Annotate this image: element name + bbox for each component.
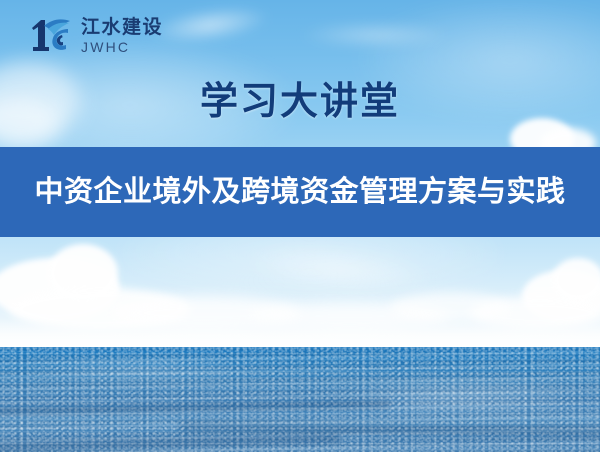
jwhc-wave-monogram-icon <box>28 16 74 56</box>
cloud <box>552 258 600 302</box>
ocean-sheen <box>330 377 590 417</box>
page-title: 学习大讲堂 <box>0 78 600 126</box>
company-logo: 江水建设 JWHC <box>28 16 163 56</box>
subtitle-banner: 中资企业境外及跨境资金管理方案与实践 <box>0 147 600 237</box>
logo-company-name-en: JWHC <box>81 40 163 54</box>
ocean-background <box>0 347 600 452</box>
subtitle-text: 中资企业境外及跨境资金管理方案与实践 <box>34 175 565 209</box>
cirrus-cloud <box>300 22 450 48</box>
logo-wordmark: 江水建设 JWHC <box>81 18 163 54</box>
logo-company-name-cn: 江水建设 <box>81 18 163 37</box>
presentation-slide: 江水建设 JWHC 学习大讲堂 中资企业境外及跨境资金管理方案与实践 <box>0 0 600 452</box>
ocean-sheen <box>20 357 260 383</box>
horizon-haze <box>0 318 600 348</box>
